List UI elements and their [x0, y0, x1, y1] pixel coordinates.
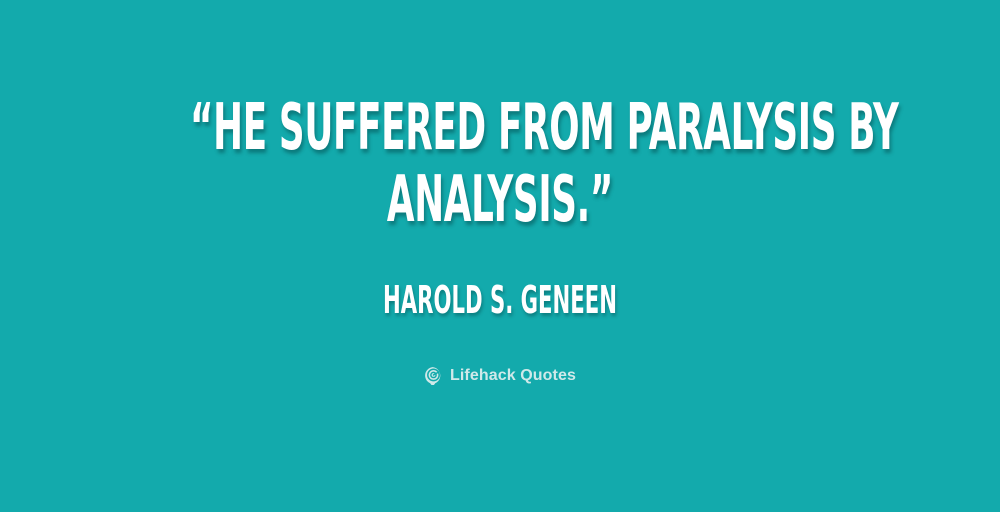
brand-footer: Lifehack Quotes: [0, 366, 1000, 385]
quote-card: “HE SUFFERED FROM PARALYSIS BY ANALYSIS.…: [0, 0, 1000, 512]
quote-author: HAROLD S. GENEEN: [190, 278, 810, 322]
brand-name: Lifehack Quotes: [450, 366, 576, 385]
quote-line-2: ANALYSIS.”: [190, 164, 810, 236]
quote-line-1: “HE SUFFERED FROM PARALYSIS BY: [190, 92, 810, 164]
lifehack-circle-logo-icon: [424, 366, 443, 385]
quote-text: “HE SUFFERED FROM PARALYSIS BY ANALYSIS.…: [190, 92, 810, 236]
